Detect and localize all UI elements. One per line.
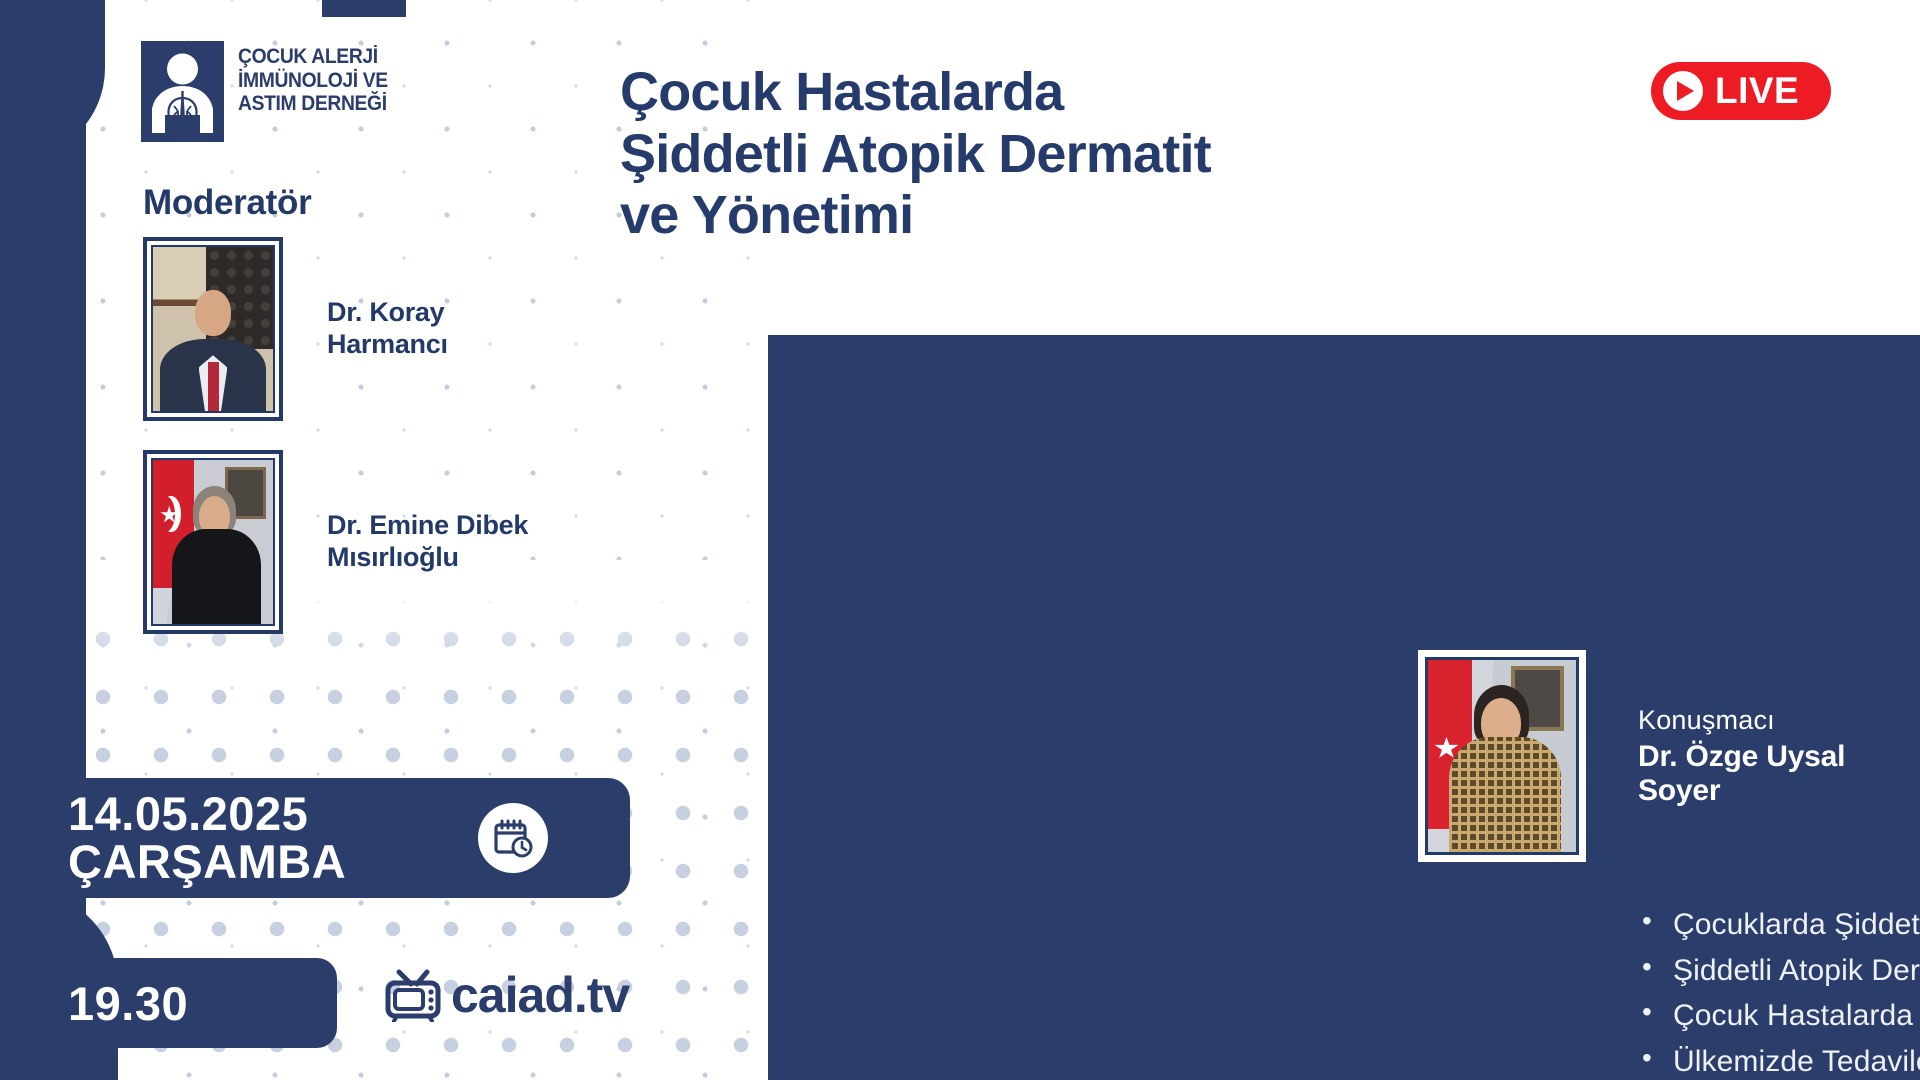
- tv-icon: [381, 962, 445, 1027]
- navy-top-tab-shape: [322, 0, 406, 17]
- moderator-entry: Dr. Koray Harmancı: [143, 237, 577, 421]
- moderator-photo-frame: [143, 450, 283, 634]
- logo-wordmark: ÇOCUK ALERJİ İMMÜNOLOJİ VE ASTIM DERNEĞİ: [238, 41, 388, 116]
- moderator-name: Dr. Emine Dibek Mısırlıoğlu: [327, 510, 577, 574]
- topic-item: Ülkemizde Tedavilerin Son Durumu: [1638, 1042, 1920, 1080]
- moderator-entry: Dr. Emine Dibek Mısırlıoğlu: [143, 450, 577, 634]
- topic-item: Şiddetli Atopik Dermatit Yönetiminde Reh…: [1638, 951, 1920, 991]
- speaker-role-label: Konuşmacı: [1638, 705, 1920, 736]
- website-block[interactable]: caiad.tv: [381, 962, 629, 1027]
- event-date-bar: 14.05.2025 ÇARŞAMBA: [0, 778, 630, 898]
- speaker-photo-frame: [1418, 650, 1586, 862]
- portrait-ozge-uysal-soyer: [1425, 657, 1579, 855]
- topic-item: Çocuk Hastalarda Şiddetli Atopik Dermati…: [1638, 996, 1920, 1036]
- moderator-name-line2: Harmancı: [327, 329, 577, 361]
- calendar-clock-icon: [478, 803, 548, 873]
- moderator-name-line1: Dr. Emine Dibek: [327, 510, 577, 542]
- main-title-text: Çocuk Hastalarda Şiddetli Atopik Dermati…: [620, 62, 1560, 247]
- event-time-bar: 19.30: [0, 958, 337, 1048]
- speaker-block: Konuşmacı Dr. Özge Uysal Soyer: [1418, 650, 1920, 862]
- logo-line-1: ÇOCUK ALERJİ: [238, 45, 388, 69]
- event-date-line2: ÇARŞAMBA: [68, 838, 346, 886]
- moderator-name-line1: Dr. Koray: [327, 297, 577, 329]
- content-panel: Konuşmacı Dr. Özge Uysal Soyer Çocuklard…: [768, 335, 1920, 1080]
- topic-item: Çocuklarda Şiddetli Atopik Dermatit Tanı…: [1638, 905, 1920, 945]
- event-time-text: 19.30: [68, 976, 188, 1031]
- event-date-text: 14.05.2025 ÇARŞAMBA: [68, 790, 346, 887]
- title-line-3: ve Yönetimi: [620, 185, 1560, 247]
- play-icon: [1663, 71, 1703, 111]
- moderator-label: Moderatör: [143, 183, 311, 223]
- portrait-koray-harmanci: [151, 245, 275, 413]
- logo-line-2: İMMÜNOLOJİ VE: [238, 69, 388, 93]
- moderator-name-line2: Mısırlıoğlu: [327, 542, 577, 574]
- portrait-emine-dibek-misirlioglu: [151, 458, 275, 626]
- person-lungs-icon: [141, 41, 224, 142]
- live-badge[interactable]: LIVE: [1651, 62, 1831, 120]
- moderator-name: Dr. Koray Harmancı: [327, 297, 577, 361]
- event-date-line1: 14.05.2025: [68, 790, 346, 838]
- title-line-2: Şiddetli Atopik Dermatit: [620, 124, 1560, 186]
- association-logo: ÇOCUK ALERJİ İMMÜNOLOJİ VE ASTIM DERNEĞİ: [141, 41, 401, 142]
- moderator-photo-frame: [143, 237, 283, 421]
- website-url[interactable]: caiad.tv: [451, 966, 629, 1024]
- title-line-1: Çocuk Hastalarda: [620, 62, 1560, 124]
- speaker-names: Konuşmacı Dr. Özge Uysal Soyer: [1638, 705, 1920, 808]
- speaker-name: Dr. Özge Uysal Soyer: [1638, 740, 1920, 808]
- topic-list: Çocuklarda Şiddetli Atopik Dermatit Tanı…: [1638, 905, 1920, 1080]
- page-title: Çocuk Hastalarda Şiddetli Atopik Dermati…: [620, 62, 1560, 247]
- logo-line-3: ASTIM DERNEĞİ: [238, 92, 388, 116]
- live-badge-label: LIVE: [1715, 70, 1799, 112]
